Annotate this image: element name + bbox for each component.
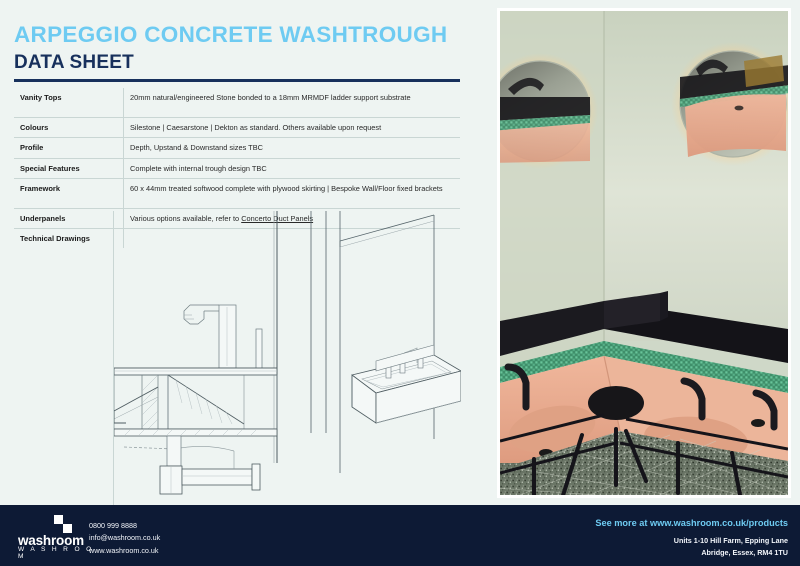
technical-drawings-svg	[114, 211, 461, 505]
footer-address-line2: Abridge, Essex, RM4 1TU	[674, 547, 788, 559]
table-row: Vanity Tops 20mm natural/engineered Ston…	[14, 88, 460, 118]
spec-value-profile: Depth, Upstand & Downstand sizes TBC	[124, 138, 461, 158]
spec-key-colours: Colours	[14, 118, 124, 138]
spec-key-profile: Profile	[14, 138, 124, 158]
footer-address: Units 1-10 Hill Farm, Epping Lane Abridg…	[674, 535, 788, 559]
washroom-logo: washroom W A S H R O O M	[18, 515, 96, 557]
footer-website[interactable]: www.washroom.co.uk	[89, 545, 160, 557]
logo-square-lower-icon	[63, 524, 72, 533]
product-photo	[500, 11, 788, 495]
left-content-column: ARPEGGIO CONCRETE WASHTROUGH DATA SHEET …	[0, 0, 490, 505]
spec-key-technical-drawings: Technical Drawings	[14, 229, 124, 249]
spec-value-framework: 60 x 44mm treated softwood complete with…	[124, 178, 461, 208]
page-subtitle: DATA SHEET	[14, 52, 134, 74]
photo-illustration	[500, 11, 788, 495]
table-row: Framework 60 x 44mm treated softwood com…	[14, 178, 460, 208]
table-row: Special Features Complete with internal …	[14, 158, 460, 178]
title-divider	[14, 79, 460, 82]
spec-value-special-features: Complete with internal trough design TBC	[124, 158, 461, 178]
footer-email[interactable]: info@washroom.co.uk	[89, 532, 160, 544]
logo-square-upper-icon	[54, 515, 63, 524]
footer-address-line1: Units 1-10 Hill Farm, Epping Lane	[674, 535, 788, 547]
drawing-reference-lines	[311, 211, 326, 433]
see-more-link[interactable]: See more at www.washroom.co.uk/products	[595, 518, 788, 528]
spec-key-vanity-tops: Vanity Tops	[14, 88, 124, 118]
isometric-view-group	[149, 211, 461, 477]
spec-key-underpanels: Underpanels	[14, 208, 124, 228]
spec-value-vanity-tops: 20mm natural/engineered Stone bonded to …	[124, 88, 461, 118]
spec-value-colours: Silestone | Caesarstone | Dekton as stan…	[124, 118, 461, 138]
table-row: Profile Depth, Upstand & Downstand sizes…	[14, 138, 460, 158]
technical-drawings-area	[113, 211, 461, 505]
table-row: Colours Silestone | Caesarstone | Dekton…	[14, 118, 460, 138]
data-sheet-page: ARPEGGIO CONCRETE WASHTROUGH DATA SHEET …	[0, 0, 800, 566]
section-view-group	[114, 211, 277, 494]
page-footer: washroom W A S H R O O M 0800 999 8888 i…	[0, 505, 800, 566]
footer-phone: 0800 999 8888	[89, 520, 160, 532]
page-title: ARPEGGIO CONCRETE WASHTROUGH	[14, 22, 447, 48]
logo-subwordmark: W A S H R O O M	[18, 547, 96, 560]
product-photo-frame	[497, 8, 791, 498]
footer-contact-block: 0800 999 8888 info@washroom.co.uk www.wa…	[89, 520, 160, 557]
spec-key-framework: Framework	[14, 178, 124, 208]
spec-key-special-features: Special Features	[14, 158, 124, 178]
